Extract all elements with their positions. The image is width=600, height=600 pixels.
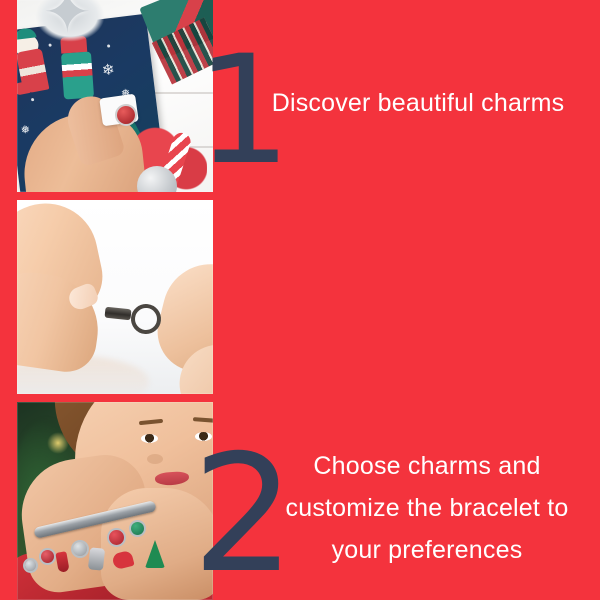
charm-bead-green bbox=[131, 522, 144, 535]
instruction-poster: ✦ ❄ ❅ ❄ ❅ bbox=[0, 0, 600, 600]
charm-bead-silver bbox=[25, 560, 36, 571]
snow-dot bbox=[31, 98, 34, 101]
step-3-photo bbox=[17, 402, 213, 600]
step-row-2: 2 Choose charms and customize the bracel… bbox=[0, 200, 600, 394]
nose bbox=[147, 454, 163, 464]
caption-line: your preferences bbox=[258, 529, 596, 571]
silver-star-ornament-icon: ✦ bbox=[43, 0, 92, 42]
step-row-1: ✦ ❄ ❅ ❄ ❅ bbox=[0, 0, 600, 192]
charm-bead-silver bbox=[73, 542, 87, 556]
eye bbox=[141, 434, 158, 443]
snowflake-icon: ❄ bbox=[101, 62, 115, 78]
calendar-stocking-graphic bbox=[17, 48, 49, 94]
caption-line: Choose charms and bbox=[258, 445, 596, 487]
step-2-photo bbox=[17, 200, 213, 394]
step-2-caption: Choose charms and customize the bracelet… bbox=[258, 445, 596, 571]
snow-dot bbox=[107, 44, 110, 47]
snowflake-icon: ❅ bbox=[20, 125, 30, 137]
caption-line: Discover beautiful charms bbox=[240, 82, 596, 124]
caption-line: customize the bracelet to bbox=[258, 487, 596, 529]
calendar-gift-graphic bbox=[61, 52, 94, 100]
red-charm-bead bbox=[117, 106, 135, 124]
charm-pendant-silver bbox=[88, 547, 105, 570]
charm-bead-red bbox=[41, 550, 54, 563]
charm-christmas-tree bbox=[145, 540, 165, 568]
step-1-photo: ✦ ❄ ❅ ❄ ❅ bbox=[17, 0, 213, 192]
step-1-caption: Discover beautiful charms bbox=[240, 82, 596, 124]
charm-bead-red bbox=[109, 530, 124, 545]
